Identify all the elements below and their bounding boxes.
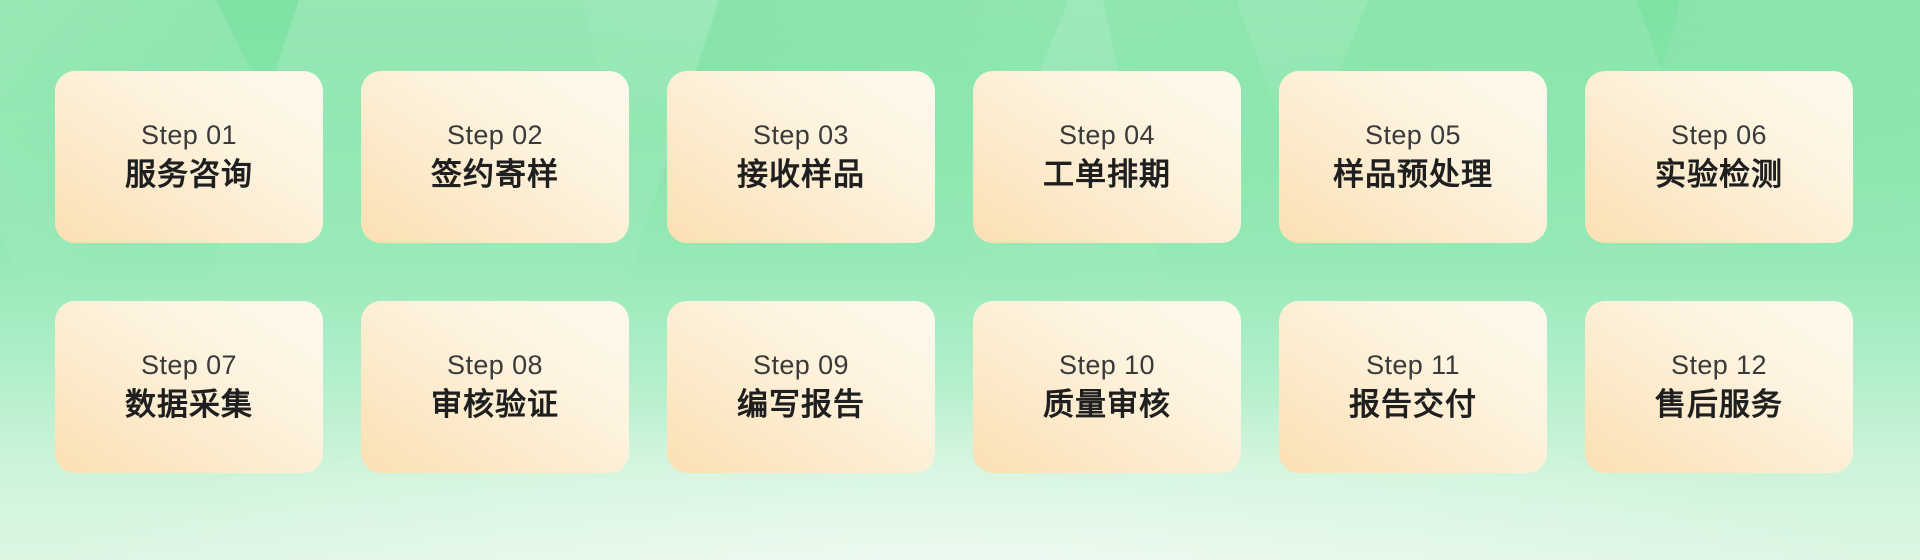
step-number: Step 01 bbox=[141, 121, 237, 151]
step-label: 工单排期 bbox=[1043, 157, 1171, 193]
step-number: Step 07 bbox=[141, 351, 237, 381]
step-number: Step 03 bbox=[753, 121, 849, 151]
step-number: Step 08 bbox=[447, 351, 543, 381]
step-card-3[interactable]: Step 03 接收样品 bbox=[667, 71, 935, 243]
step-label: 数据采集 bbox=[125, 387, 253, 423]
step-label: 售后服务 bbox=[1655, 387, 1783, 423]
step-card-5[interactable]: Step 05 样品预处理 bbox=[1279, 71, 1547, 243]
step-card-8[interactable]: Step 08 审核验证 bbox=[361, 301, 629, 473]
process-steps-grid: Step 01 服务咨询 Step 02 签约寄样 Step 03 接收样品 S… bbox=[55, 71, 1853, 473]
step-label: 签约寄样 bbox=[431, 157, 559, 193]
step-label: 编写报告 bbox=[737, 387, 865, 423]
step-label: 接收样品 bbox=[737, 157, 865, 193]
step-label: 报告交付 bbox=[1349, 387, 1477, 423]
step-label: 服务咨询 bbox=[125, 157, 253, 193]
step-label: 实验检测 bbox=[1655, 157, 1783, 193]
step-number: Step 12 bbox=[1671, 351, 1767, 381]
step-number: Step 10 bbox=[1059, 351, 1155, 381]
step-card-1[interactable]: Step 01 服务咨询 bbox=[55, 71, 323, 243]
step-number: Step 04 bbox=[1059, 121, 1155, 151]
step-number: Step 06 bbox=[1671, 121, 1767, 151]
step-number: Step 05 bbox=[1365, 121, 1461, 151]
step-number: Step 11 bbox=[1366, 351, 1460, 381]
step-card-7[interactable]: Step 07 数据采集 bbox=[55, 301, 323, 473]
step-card-11[interactable]: Step 11 报告交付 bbox=[1279, 301, 1547, 473]
step-card-2[interactable]: Step 02 签约寄样 bbox=[361, 71, 629, 243]
step-label: 质量审核 bbox=[1043, 387, 1171, 423]
step-label: 样品预处理 bbox=[1333, 157, 1493, 193]
step-card-12[interactable]: Step 12 售后服务 bbox=[1585, 301, 1853, 473]
step-number: Step 09 bbox=[753, 351, 849, 381]
step-label: 审核验证 bbox=[431, 387, 559, 423]
step-card-6[interactable]: Step 06 实验检测 bbox=[1585, 71, 1853, 243]
step-card-4[interactable]: Step 04 工单排期 bbox=[973, 71, 1241, 243]
step-card-9[interactable]: Step 09 编写报告 bbox=[667, 301, 935, 473]
step-card-10[interactable]: Step 10 质量审核 bbox=[973, 301, 1241, 473]
step-number: Step 02 bbox=[447, 121, 543, 151]
